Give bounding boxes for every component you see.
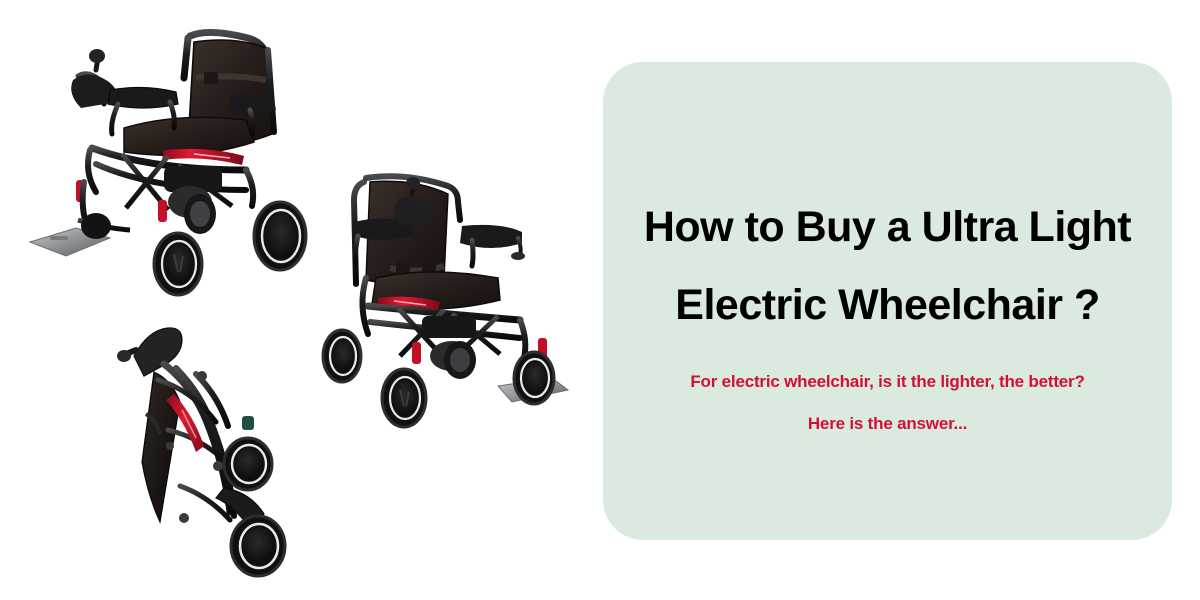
product-image-wheelchair-front-three-quarter (18, 14, 318, 314)
page-title: How to Buy a Ultra Light Electric Wheelc… (603, 188, 1172, 344)
promo-banner: How to Buy a Ultra Light Electric Wheelc… (0, 0, 1200, 600)
subheadline-line-1: For electric wheelchair, is it the light… (603, 372, 1172, 392)
headline-panel: How to Buy a Ultra Light Electric Wheelc… (603, 62, 1172, 540)
product-image-wheelchair-folded (112, 318, 312, 590)
product-image-gallery (0, 0, 600, 600)
subheadline-line-2: Here is the answer... (603, 414, 1172, 434)
product-image-wheelchair-reverse-angle (312, 160, 582, 430)
